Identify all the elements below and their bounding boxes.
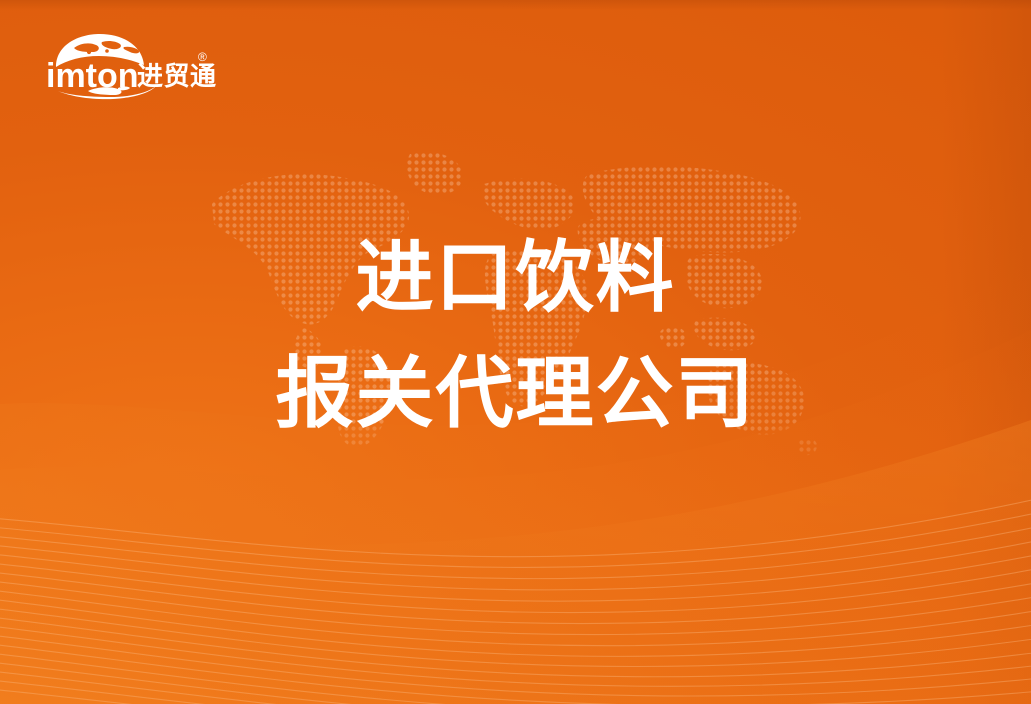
logo-chinese-name: 进贸通 [137, 61, 217, 91]
headline-block: 进口饮料 报关代理公司 [0, 238, 1031, 432]
registered-trademark-icon: ® [198, 50, 207, 64]
headline-line-2: 报关代理公司 [0, 354, 1031, 432]
promo-banner: imton 进贸通 ® 进口饮料 报关代理公司 [0, 0, 1031, 704]
background-top-shade [0, 0, 1031, 10]
headline-line-1: 进口饮料 [0, 238, 1031, 316]
company-logo[interactable]: imton 进贸通 ® [44, 31, 219, 103]
logo-wordmark: imton [46, 57, 139, 95]
